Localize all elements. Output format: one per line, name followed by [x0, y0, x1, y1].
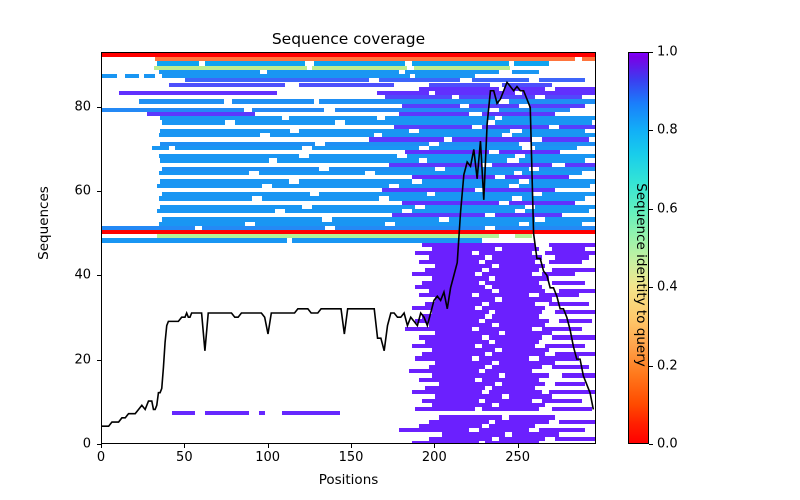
coverage-line-overlay	[102, 53, 595, 443]
page-title: Sequence coverage	[101, 30, 596, 48]
x-tick-label: 100	[255, 450, 280, 465]
x-tick-mark	[101, 444, 102, 448]
colorbar-tick-label: 0.6	[657, 201, 678, 216]
colorbar-tick-mark	[649, 444, 653, 445]
x-axis-label: Positions	[101, 472, 596, 488]
y-tick-mark	[97, 360, 101, 361]
x-tick-mark	[351, 444, 352, 448]
colorbar-tick-mark	[649, 287, 653, 288]
colorbar-tick-label: 0.2	[657, 358, 678, 373]
colorbar-tick-mark	[649, 209, 653, 210]
colorbar-tick-label: 0.8	[657, 123, 678, 138]
y-tick-label: 40	[74, 268, 91, 283]
y-axis-label: Sequences	[36, 148, 52, 298]
heatmap-axes[interactable]	[101, 52, 596, 444]
x-tick-label: 250	[505, 450, 530, 465]
x-tick-mark	[184, 444, 185, 448]
colorbar-label: Sequence identity to query	[633, 175, 649, 375]
y-tick-mark	[97, 275, 101, 276]
x-tick-mark	[518, 444, 519, 448]
x-tick-mark	[434, 444, 435, 448]
y-tick-label: 20	[74, 352, 91, 367]
figure-canvas: Sequence coverage 050100150200250 020406…	[0, 0, 800, 500]
y-tick-mark	[97, 191, 101, 192]
y-tick-label: 60	[74, 184, 91, 199]
colorbar-tick-mark	[649, 52, 653, 53]
colorbar-tick-label: 0.4	[657, 280, 678, 295]
y-tick-mark	[97, 444, 101, 445]
x-tick-label: 50	[176, 450, 193, 465]
y-tick-label: 80	[74, 99, 91, 114]
y-tick-label: 0	[83, 437, 91, 452]
x-tick-mark	[268, 444, 269, 448]
y-tick-mark	[97, 107, 101, 108]
coverage-polyline	[102, 82, 593, 426]
colorbar-tick-mark	[649, 130, 653, 131]
colorbar-tick-label: 0.0	[657, 437, 678, 452]
x-tick-label: 200	[422, 450, 447, 465]
x-tick-label: 0	[97, 450, 105, 465]
colorbar-tick-label: 1.0	[657, 45, 678, 60]
x-tick-label: 150	[339, 450, 364, 465]
colorbar-tick-mark	[649, 366, 653, 367]
